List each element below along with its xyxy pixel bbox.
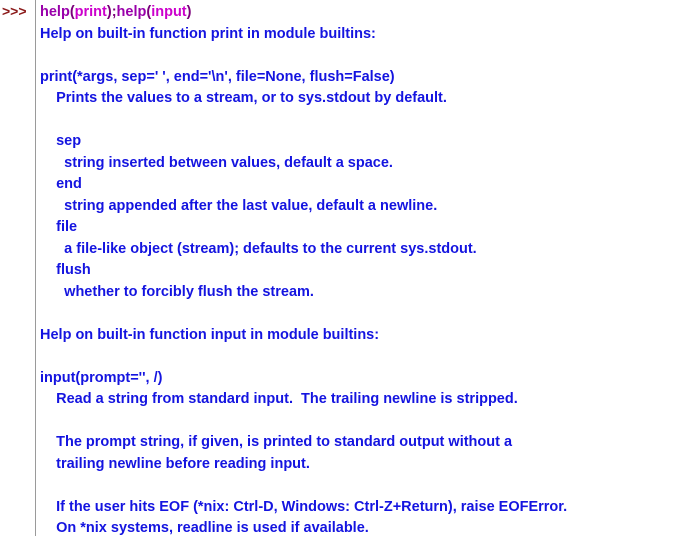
output-line: The prompt string, if given, is printed … bbox=[40, 432, 695, 454]
code-token-arg-2: print bbox=[75, 4, 107, 20]
output-line: Help on built-in function print in modul… bbox=[40, 24, 695, 46]
shell-output-area[interactable]: help(print);help(input) Help on built-in… bbox=[40, 2, 695, 540]
output-line: Prints the values to a stream, or to sys… bbox=[40, 88, 695, 110]
code-token-arg-6: input bbox=[151, 4, 186, 20]
output-line: a file-like object (stream); defaults to… bbox=[40, 239, 695, 261]
output-line: print(*args, sep=' ', end='\n', file=Non… bbox=[40, 67, 695, 89]
output-blank-line bbox=[40, 45, 695, 67]
code-token-builtin-4: help bbox=[117, 4, 147, 20]
output-line: string inserted between values, default … bbox=[40, 153, 695, 175]
output-line: string appended after the last value, de… bbox=[40, 196, 695, 218]
help-output-block: Help on built-in function print in modul… bbox=[40, 24, 695, 540]
output-line: flush bbox=[40, 260, 695, 282]
gutter-separator-rule bbox=[35, 0, 36, 536]
output-line: file bbox=[40, 217, 695, 239]
shell-prompt: >>> bbox=[2, 2, 27, 20]
python-shell-window[interactable]: >>> help(print);help(input) Help on buil… bbox=[0, 0, 697, 536]
code-token-builtin-0: help bbox=[40, 4, 70, 20]
output-line: On *nix systems, readline is used if ava… bbox=[40, 518, 695, 540]
output-line: Help on built-in function input in modul… bbox=[40, 325, 695, 347]
output-line: input(prompt='', /) bbox=[40, 368, 695, 390]
code-token-punct-7: ) bbox=[187, 4, 192, 20]
input-echo-line: help(print);help(input) bbox=[40, 2, 695, 24]
code-token-punct-3: ); bbox=[107, 4, 117, 20]
output-line: trailing newline before reading input. bbox=[40, 454, 695, 476]
output-line: whether to forcibly flush the stream. bbox=[40, 282, 695, 304]
output-line: If the user hits EOF (*nix: Ctrl-D, Wind… bbox=[40, 497, 695, 519]
output-line: end bbox=[40, 174, 695, 196]
output-blank-line bbox=[40, 475, 695, 497]
output-blank-line bbox=[40, 303, 695, 325]
output-line: sep bbox=[40, 131, 695, 153]
output-blank-line bbox=[40, 411, 695, 433]
output-blank-line bbox=[40, 110, 695, 132]
output-line: Read a string from standard input. The t… bbox=[40, 389, 695, 411]
output-blank-line bbox=[40, 346, 695, 368]
